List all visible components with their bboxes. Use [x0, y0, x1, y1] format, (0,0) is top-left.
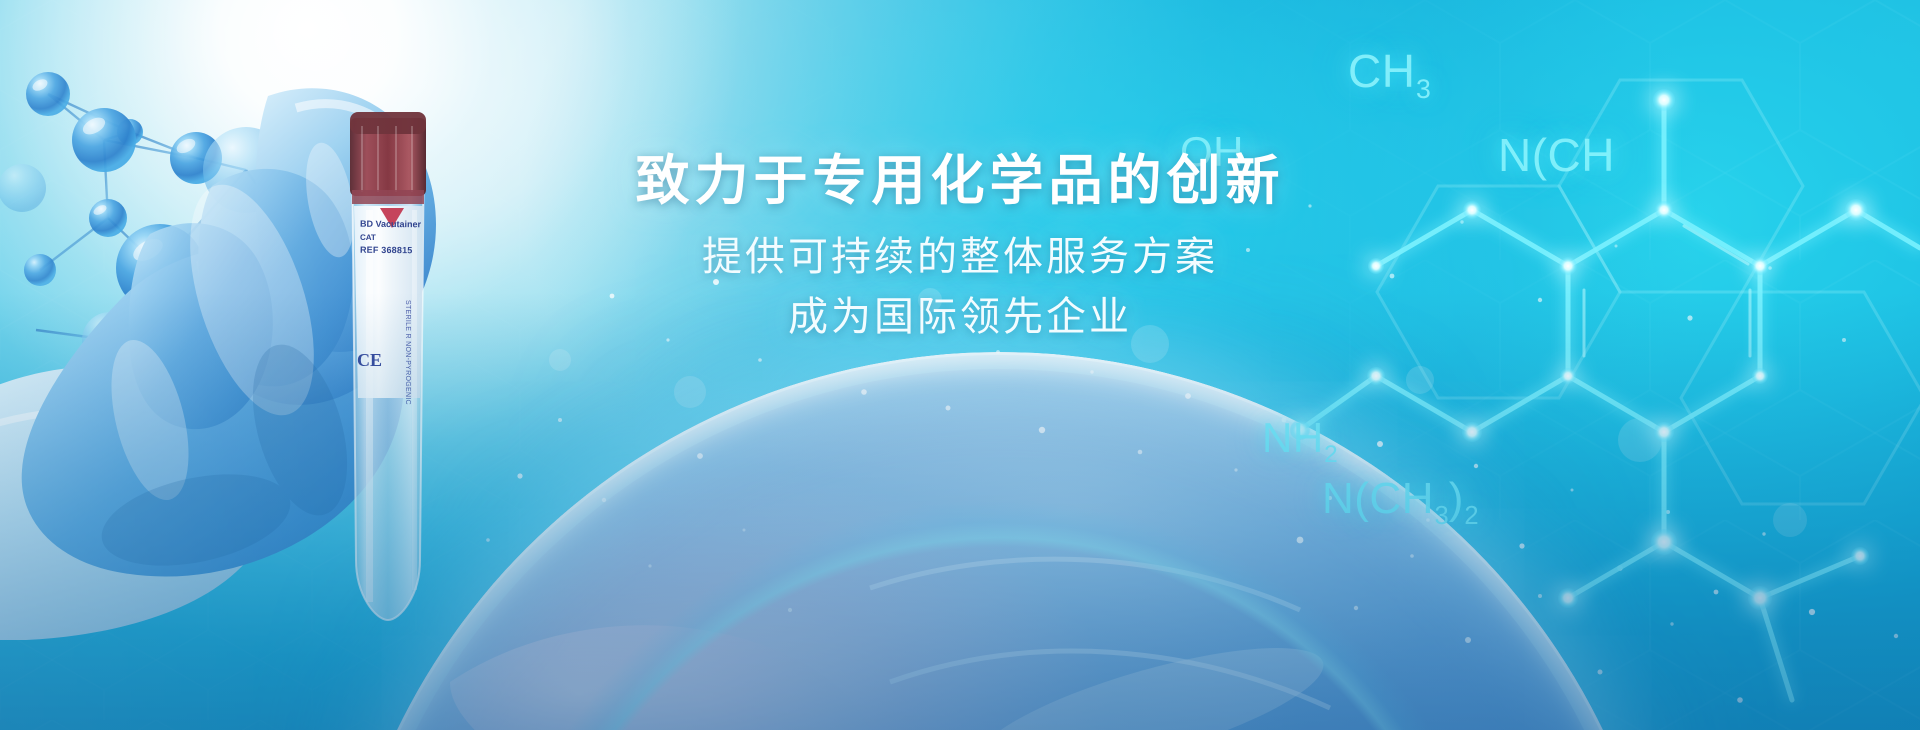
hero-subtitle-line-2: 成为国际领先企业: [0, 288, 1920, 346]
hero-subtitle-line-1: 提供可持续的整体服务方案: [0, 228, 1920, 286]
page-title: 致力于专用化学品的创新: [0, 150, 1920, 214]
hero-copy-block: 致力于专用化学品的创新 提供可持续的整体服务方案 成为国际领先企业: [0, 150, 1920, 346]
test-tube-label: BD Vacutainer CAT REF 368815 CE STERILE …: [0, 0, 520, 730]
hero-banner: CH3 OH N(CH NH2 N(CH3)2: [0, 0, 1920, 730]
ce-mark-icon: CE: [357, 350, 382, 371]
